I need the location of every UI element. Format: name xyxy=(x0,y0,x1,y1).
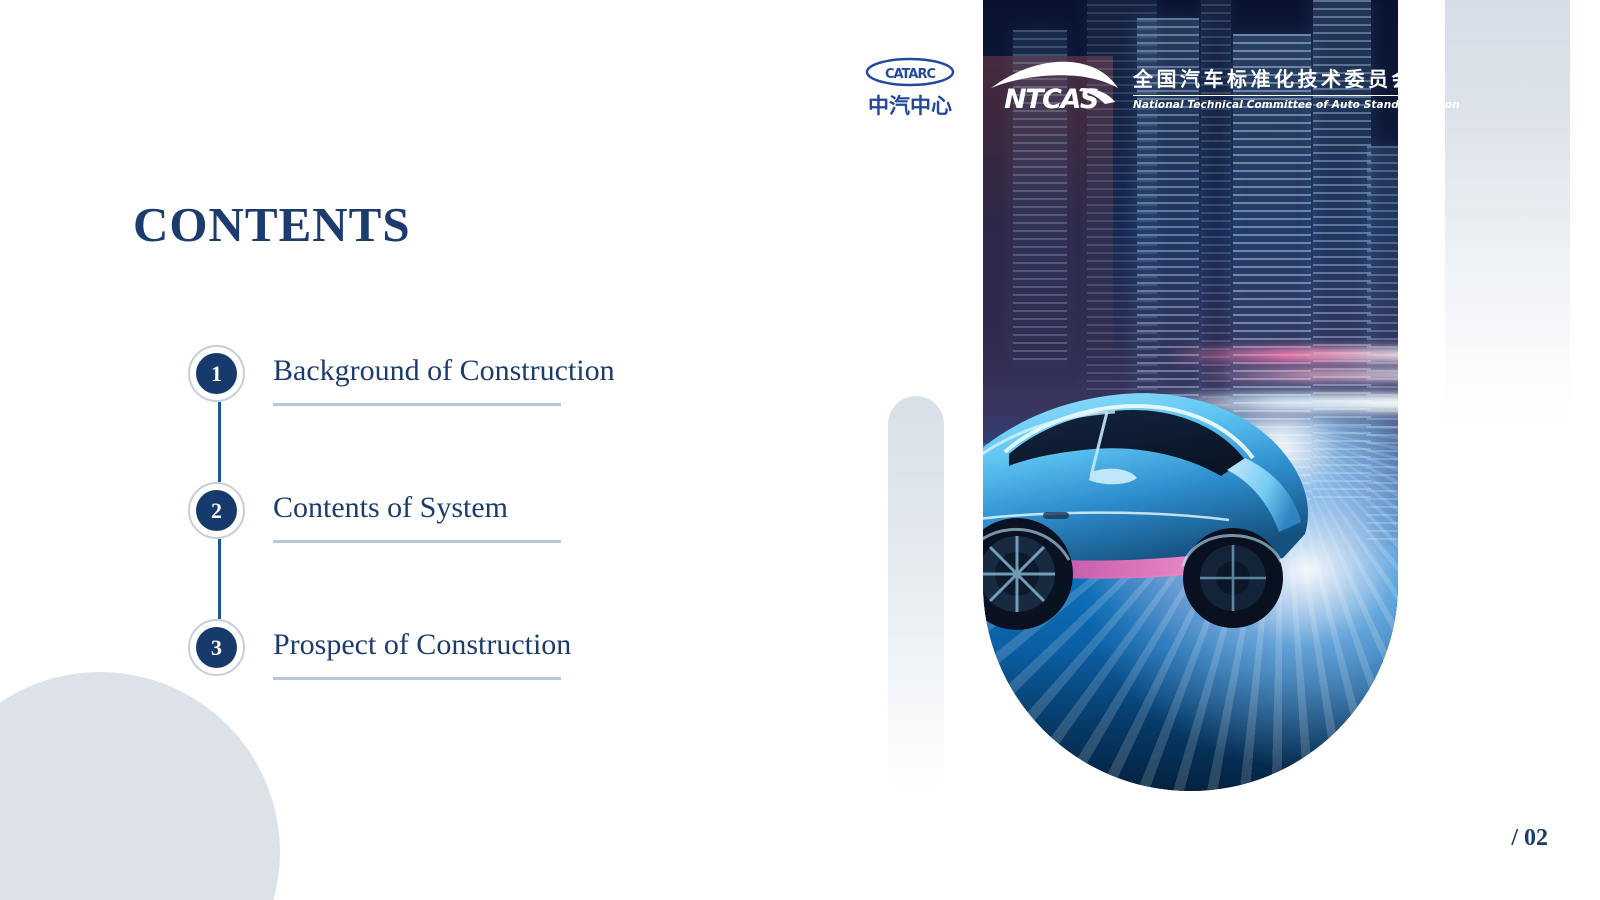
decorative-bar-right xyxy=(1445,0,1570,430)
slide-root: CONTENTS 1 Background of Construction 2 … xyxy=(0,0,1600,900)
connector-line xyxy=(218,402,221,482)
table-of-contents: 1 Background of Construction 2 Contents … xyxy=(188,345,828,709)
ntcas-chinese-name: 全国汽车标准化技术委员会 xyxy=(1133,63,1460,92)
toc-badge-2: 2 xyxy=(188,482,245,539)
toc-badge-3: 3 xyxy=(188,619,245,676)
ntcas-english-name: National Technical Committee of Auto Sta… xyxy=(1133,99,1460,111)
sports-car-illustration xyxy=(983,326,1398,646)
svg-text:NTCAS: NTCAS xyxy=(1004,84,1098,115)
ntcas-logo: NTCAS 全国汽车标准化技术委员会 National Technical Co… xyxy=(985,48,1385,126)
ntcas-text-block: 全国汽车标准化技术委员会 National Technical Committe… xyxy=(1133,63,1460,111)
toc-item-label: Prospect of Construction xyxy=(273,628,571,662)
page-title: CONTENTS xyxy=(133,196,411,253)
list-item[interactable]: 1 Background of Construction xyxy=(188,345,828,482)
toc-item-label: Contents of System xyxy=(273,491,508,525)
catarc-wordmark: CATARC xyxy=(885,67,936,82)
page-number: / 02 xyxy=(1511,825,1548,852)
ntcas-divider xyxy=(1133,95,1401,96)
catarc-logo: CATARC 中汽中心 xyxy=(862,57,958,120)
decorative-bar-middle xyxy=(888,396,944,796)
connector-line xyxy=(218,539,221,619)
catarc-chinese-name: 中汽中心 xyxy=(862,90,958,120)
toc-item-underline xyxy=(273,403,561,406)
toc-item-label: Background of Construction xyxy=(273,354,615,388)
list-item[interactable]: 3 Prospect of Construction xyxy=(188,619,828,709)
catarc-oval-icon: CATARC xyxy=(865,57,955,87)
toc-item-underline xyxy=(273,540,561,543)
toc-item-underline xyxy=(273,677,561,680)
toc-badge-number: 1 xyxy=(196,353,237,394)
list-item[interactable]: 2 Contents of System xyxy=(188,482,828,619)
toc-badge-number: 3 xyxy=(196,627,237,668)
toc-badge-number: 2 xyxy=(196,490,237,531)
toc-badge-1: 1 xyxy=(188,345,245,402)
ntcas-car-wordmark-icon: NTCAS xyxy=(985,54,1125,120)
